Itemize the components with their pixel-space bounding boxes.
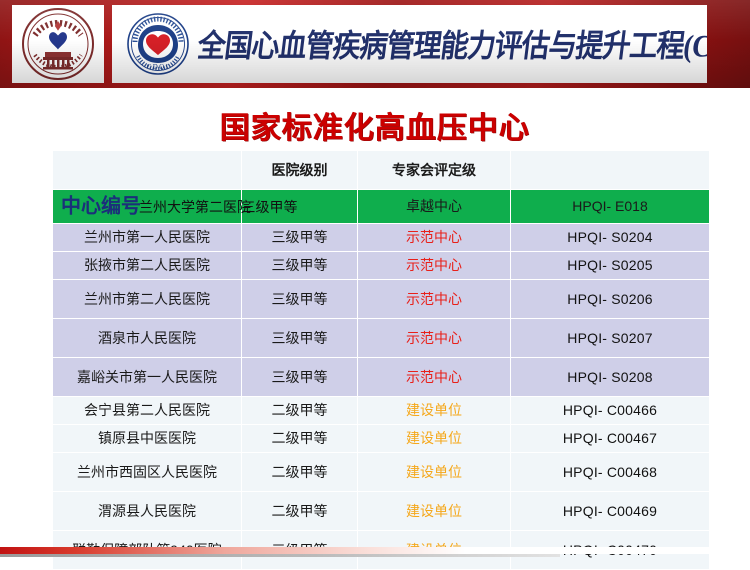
cell-hospital-level-text: 二级甲等 [242,453,357,491]
cell-center-code: HPQI- C00466 [511,397,709,424]
cell-expert-grade-text: 示范中心 [358,358,510,396]
cell-hospital-name-text: 兰州市第一人民医院 [53,224,241,251]
cell-center-code-text: HPQI- C00466 [511,397,709,424]
cell-hospital-level: 三级甲等 [242,358,357,396]
cell-hospital-level-text: 三级甲等 [242,319,357,357]
lanzhou-university-hospital-emblem-icon [21,7,95,81]
cell-hospital-name-text: 兰州市第二人民医院 [53,280,241,318]
cdqi-heart-emblem-icon: CDQI [126,12,190,76]
cell-center-code: HPQI- C00469 [511,492,709,530]
cell-hospital-name-text: 酒泉市人民医院 [53,319,241,357]
cell-hospital-level: 二级甲等 [242,492,357,530]
table-row: 酒泉市人民医院三级甲等示范中心HPQI- S0207 [53,319,709,357]
hypertension-center-table: 医院级别 专家会评定级 中心编号 兰州大学第二医院 三级甲等 卓越中心 HPQI… [52,150,710,570]
cell-hospital-name: 张掖市第二人民医院 [53,252,241,279]
cell-hospital-name: 嘉峪关市第一人民医院 [53,358,241,396]
cell-hospital-name-text: 镇原县中医医院 [53,425,241,452]
excellence-level-cell: 三级甲等 [242,190,357,223]
cell-center-code-text: HPQI- S0207 [511,319,709,357]
cell-hospital-level: 二级甲等 [242,453,357,491]
bottom-accent-bar [0,547,750,554]
cell-expert-grade-text: 建设单位 [358,492,510,530]
cell-expert-grade-text: 示范中心 [358,252,510,279]
table-row: 渭源县人民医院二级甲等建设单位HPQI- C00469 [53,492,709,530]
cell-hospital-level-text: 三级甲等 [242,280,357,318]
svg-text:CDQI: CDQI [147,63,170,71]
cdqi-banner-title: 全国心血管疾病管理能力评估与提升工程(CDQI) [195,22,707,67]
cell-expert-grade-text: 建设单位 [358,397,510,424]
cell-expert-grade-text: 示范中心 [358,319,510,357]
table-row: 张掖市第二人民医院三级甲等示范中心HPQI- S0205 [53,252,709,279]
table-row-excellence: 中心编号 兰州大学第二医院 三级甲等 卓越中心 HPQI- E018 [53,190,709,223]
cell-center-code-text: HPQI- C00468 [511,453,709,491]
cell-expert-grade-text: 建设单位 [358,453,510,491]
header-cell-hospital-level: 医院级别 [242,151,357,189]
cell-center-code-text: HPQI- C00469 [511,492,709,530]
table-header-row: 医院级别 专家会评定级 [53,151,709,189]
cell-hospital-level: 三级甲等 [242,224,357,251]
cell-hospital-level-text: 三级甲等 [242,224,357,251]
cell-hospital-level: 二级甲等 [242,425,357,452]
cell-center-code-text: HPQI- C00467 [511,425,709,452]
cell-expert-grade: 示范中心 [358,319,510,357]
cell-center-code-text: HPQI- S0205 [511,252,709,279]
cell-center-code-text: HPQI- S0204 [511,224,709,251]
cell-hospital-name-text: 张掖市第二人民医院 [53,252,241,279]
cell-expert-grade-text: 示范中心 [358,224,510,251]
cell-center-code-text: HPQI- S0208 [511,358,709,396]
cell-hospital-level-text: 三级甲等 [242,358,357,396]
cell-hospital-level-text: 二级甲等 [242,492,357,530]
cell-hospital-name-text: 会宁县第二人民医院 [53,397,241,424]
excellence-hospital-cell: 中心编号 兰州大学第二医院 [53,190,241,223]
cell-hospital-name: 兰州市第二人民医院 [53,280,241,318]
cell-hospital-level: 二级甲等 [242,397,357,424]
cell-hospital-name-text: 兰州市西固区人民医院 [53,453,241,491]
cell-hospital-level-text: 二级甲等 [242,397,357,424]
center-number-overlap-label: 中心编号 [61,195,141,218]
cell-center-code-text: HPQI- S0206 [511,280,709,318]
cdqi-banner-container: CDQI 全国心血管疾病管理能力评估与提升工程(CDQI) [112,5,707,83]
table-row: 兰州市第二人民医院三级甲等示范中心HPQI- S0206 [53,280,709,318]
cell-center-code: HPQI- S0205 [511,252,709,279]
page-title: 国家标准化高血压中心 [0,103,750,147]
cell-expert-grade: 示范中心 [358,358,510,396]
header-cell-expert-grade: 专家会评定级 [358,151,510,189]
cell-expert-grade: 建设单位 [358,453,510,491]
cell-hospital-name: 会宁县第二人民医院 [53,397,241,424]
cell-center-code: HPQI- C00468 [511,453,709,491]
cell-expert-grade: 示范中心 [358,280,510,318]
cell-center-code: HPQI- S0207 [511,319,709,357]
cell-expert-grade: 建设单位 [358,397,510,424]
excellence-hospital-name: 兰州大学第二医院 [139,198,251,214]
cell-expert-grade-text: 建设单位 [358,425,510,452]
table-row: 兰州市西固区人民医院二级甲等建设单位HPQI- C00468 [53,453,709,491]
cell-hospital-name: 兰州市西固区人民医院 [53,453,241,491]
table-row: 镇原县中医医院二级甲等建设单位HPQI- C00467 [53,425,709,452]
cell-hospital-name-text: 嘉峪关市第一人民医院 [53,358,241,396]
table-row: 嘉峪关市第一人民医院三级甲等示范中心HPQI- S0208 [53,358,709,396]
cell-hospital-name: 酒泉市人民医院 [53,319,241,357]
table-row: 兰州市第一人民医院三级甲等示范中心HPQI- S0204 [53,224,709,251]
bottom-grey-line [0,554,560,557]
table-row: 会宁县第二人民医院二级甲等建设单位HPQI- C00466 [53,397,709,424]
cell-hospital-name-text: 渭源县人民医院 [53,492,241,530]
cell-hospital-name: 镇原县中医医院 [53,425,241,452]
university-logo-container [12,5,104,83]
cell-hospital-level: 三级甲等 [242,319,357,357]
cell-hospital-level-text: 三级甲等 [242,252,357,279]
cell-hospital-level: 三级甲等 [242,280,357,318]
cell-hospital-level: 三级甲等 [242,252,357,279]
cell-center-code: HPQI- S0208 [511,358,709,396]
cell-center-code: HPQI- C00467 [511,425,709,452]
top-banner: CDQI 全国心血管疾病管理能力评估与提升工程(CDQI) [0,0,750,88]
cell-hospital-name: 兰州市第一人民医院 [53,224,241,251]
cell-expert-grade: 建设单位 [358,425,510,452]
cell-center-code: HPQI- S0204 [511,224,709,251]
excellence-code-cell: HPQI- E018 [511,190,709,223]
header-cell-blank-right [511,151,709,189]
cell-hospital-level-text: 二级甲等 [242,425,357,452]
cell-expert-grade: 建设单位 [358,492,510,530]
excellence-grade-cell: 卓越中心 [358,190,510,223]
cell-expert-grade: 示范中心 [358,252,510,279]
cell-expert-grade: 示范中心 [358,224,510,251]
header-cell-blank-left [53,151,241,189]
cell-expert-grade-text: 示范中心 [358,280,510,318]
cell-center-code: HPQI- S0206 [511,280,709,318]
cell-hospital-name: 渭源县人民医院 [53,492,241,530]
